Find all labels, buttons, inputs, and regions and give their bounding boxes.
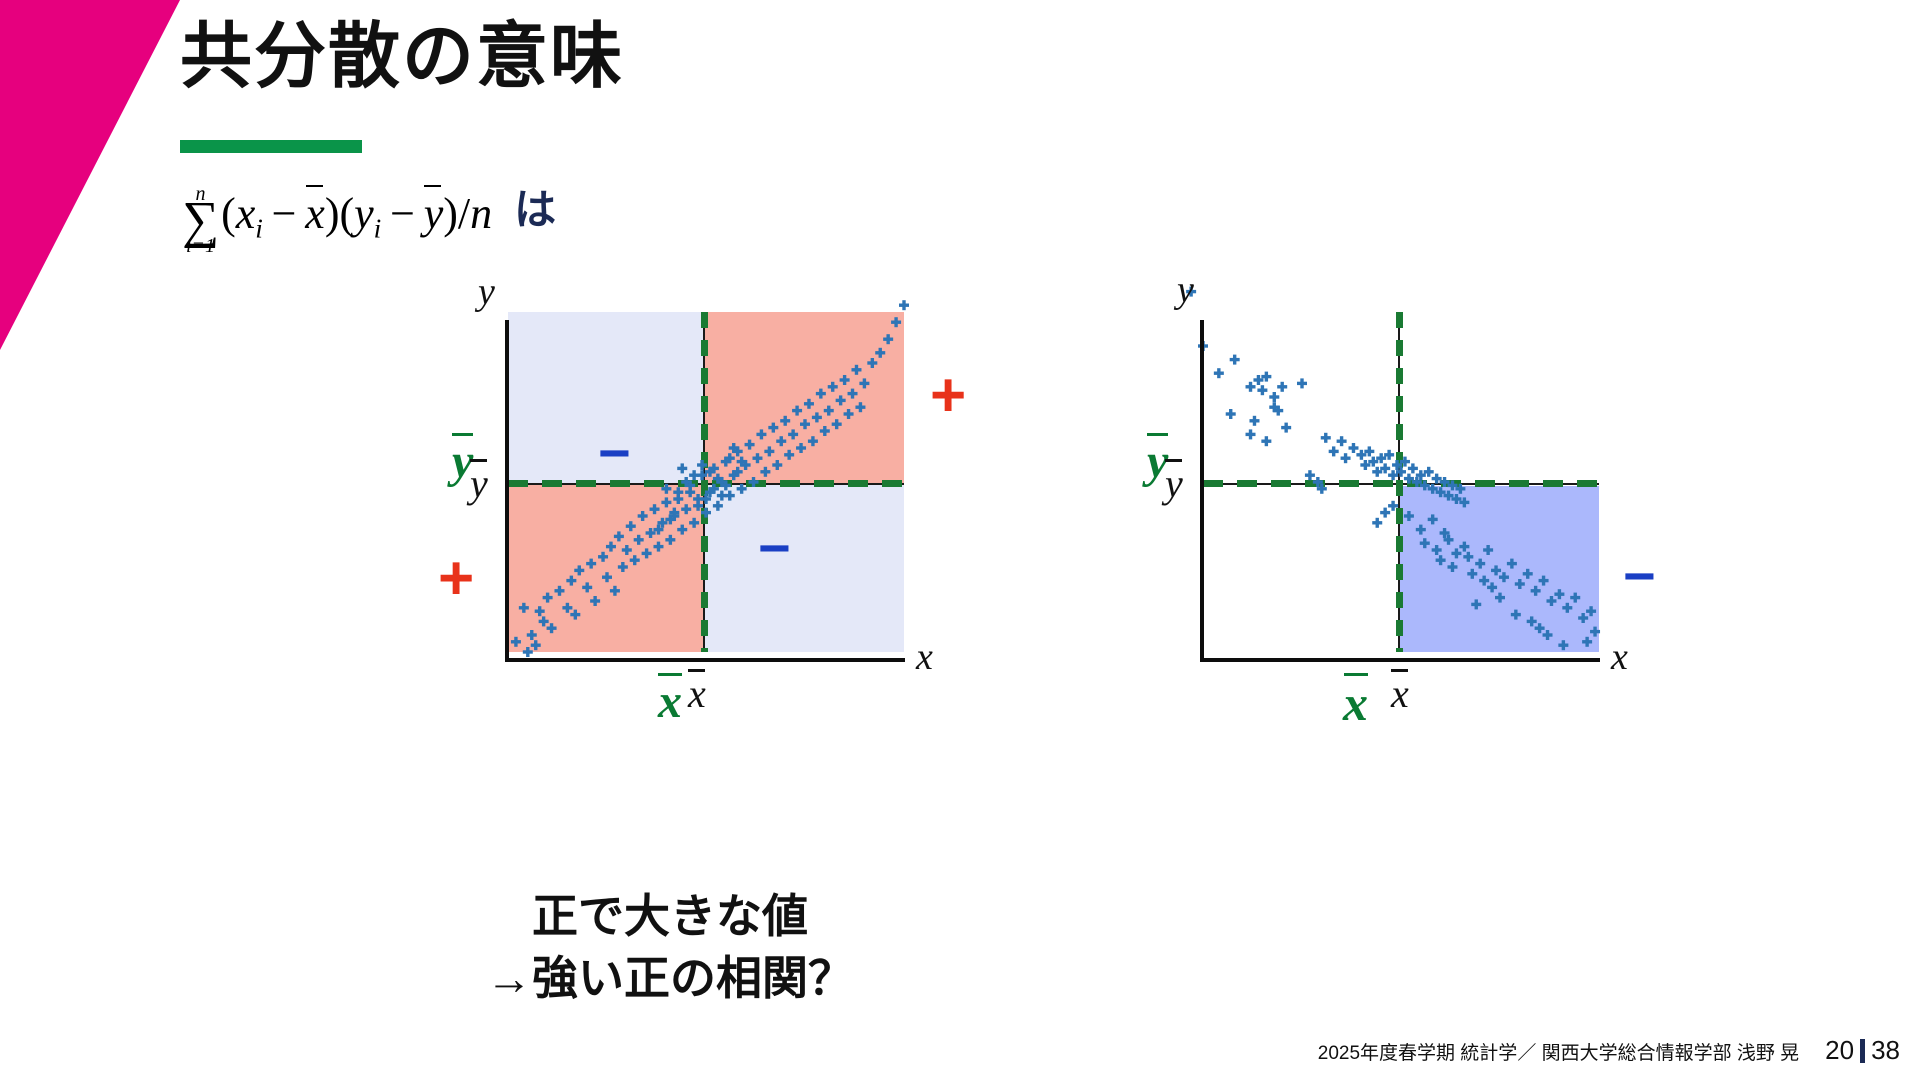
formula-y-subscript: i xyxy=(374,214,382,244)
summation-operator: n ∑ i=1 xyxy=(182,184,219,256)
covariance-formula: n ∑ i=1 (xi − x)(yi − y)/n xyxy=(182,182,492,254)
plus-sign-bottom-left: + xyxy=(438,548,474,610)
caption-line-1: 正で大きな値 xyxy=(0,885,1340,947)
formula-minus-1: − xyxy=(272,189,297,238)
x-mean-label-green: x xyxy=(1343,674,1368,732)
y-mean-label-black: y xyxy=(1165,460,1183,507)
negative-correlation-chart: y x − y y x x xyxy=(1195,330,1625,760)
formula-x-subscript: i xyxy=(255,214,263,244)
y-axis-line xyxy=(1200,320,1204,662)
x-axis-line xyxy=(505,658,905,662)
scatter-points-negative xyxy=(1195,330,1665,730)
x-axis-label: x xyxy=(916,635,933,679)
formula-minus-2: − xyxy=(390,189,415,238)
minus-sign-bottom-right: − xyxy=(758,520,791,576)
formula-particle: は xyxy=(514,176,556,237)
x-axis-label: x xyxy=(1611,635,1628,679)
sum-lower-limit: i=1 xyxy=(186,236,215,256)
formula-open-paren: ( xyxy=(221,189,236,238)
charts-container: y x − − + + y y x x y x − y y x x xyxy=(0,330,1920,890)
footer: 2025年度春学期 統計学／ 関西大学総合情報学部 浅野 晃 20 38 xyxy=(1318,1035,1900,1066)
y-axis-label: y xyxy=(478,270,495,314)
x-axis-line xyxy=(1200,658,1600,662)
plus-sign-top-right: + xyxy=(930,365,966,427)
formula-y-mean: y xyxy=(424,188,444,239)
caption-line-2: →強い正の相関？ xyxy=(0,947,1340,1009)
formula-x-var: x xyxy=(236,189,256,238)
current-page-number: 20 xyxy=(1825,1035,1854,1066)
y-mean-label-black: y xyxy=(470,460,488,507)
positive-correlation-chart: y x − − + + y y x x xyxy=(500,330,930,760)
formula-close-paren-slash: )/ xyxy=(443,189,470,238)
formula-mid-parens: )( xyxy=(325,189,354,238)
minus-sign-bottom-right: − xyxy=(1623,548,1656,604)
formula-row: n ∑ i=1 (xi − x)(yi − y)/n は xyxy=(182,176,556,250)
formula-n-divisor: n xyxy=(470,189,492,238)
total-page-number: 38 xyxy=(1871,1035,1900,1066)
x-mean-label-black: x xyxy=(688,670,706,717)
page-indicator: 20 38 xyxy=(1825,1035,1900,1066)
page-title: 共分散の意味 xyxy=(180,18,624,97)
y-axis-line xyxy=(505,320,509,662)
decorative-corner-triangle xyxy=(0,0,180,350)
page-separator-icon xyxy=(1860,1039,1865,1063)
caption-block: 正で大きな値 →強い正の相関？ xyxy=(0,885,1340,1009)
y-axis-label: y xyxy=(1177,268,1194,312)
scatter-points-positive xyxy=(500,330,970,730)
formula-x-mean: x xyxy=(305,188,325,239)
title-underline-bar xyxy=(180,140,362,153)
x-mean-label-green: x xyxy=(658,674,682,729)
minus-sign-top-left: − xyxy=(598,425,631,481)
x-mean-label-black: x xyxy=(1391,670,1409,717)
formula-y-var: y xyxy=(354,189,374,238)
footer-course-info: 2025年度春学期 統計学／ 関西大学総合情報学部 浅野 晃 xyxy=(1318,1038,1799,1065)
